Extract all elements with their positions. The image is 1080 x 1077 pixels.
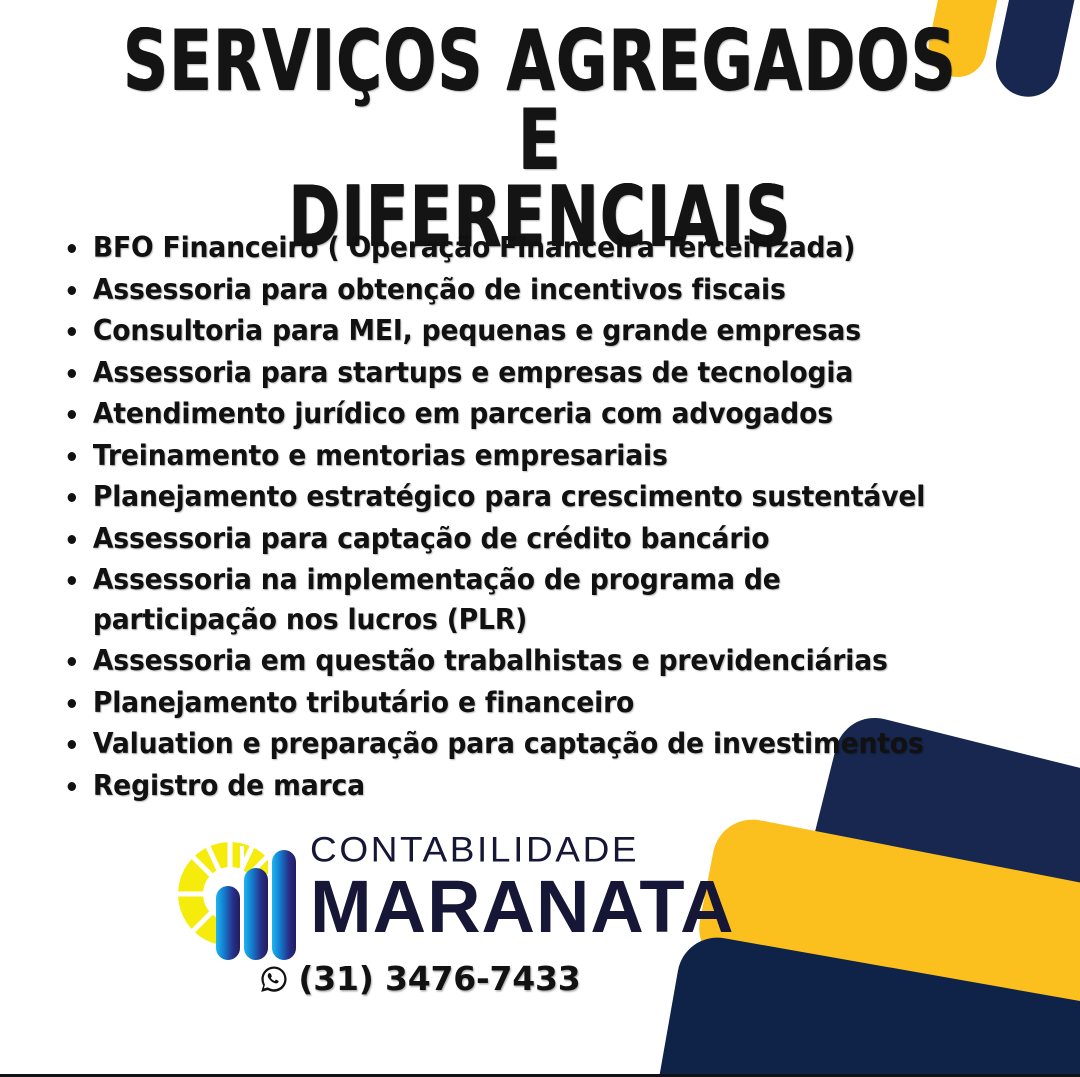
service-list-item: Assessoria para captação de crédito banc… xyxy=(62,519,988,559)
service-list-item: Valuation e preparação para captação de … xyxy=(62,724,988,764)
service-list-item: Assessoria para obtenção de incentivos f… xyxy=(62,270,988,310)
service-list-item: Atendimento jurídico em parceria com adv… xyxy=(62,394,988,434)
brand-logo-wordmark: CONTABILIDADE MARANATA xyxy=(310,828,735,942)
brand-logo-bottom-word: MARANATA xyxy=(310,872,735,942)
service-list-item: Assessoria para startups e empresas de t… xyxy=(62,353,988,393)
service-list-item: Assessoria na implementação de programa … xyxy=(62,560,838,639)
brand-logo-top-word: CONTABILIDADE xyxy=(310,832,639,868)
bottom-right-yellow-band xyxy=(692,813,1080,1077)
service-list-item: Assessoria em questão trabalhistas e pre… xyxy=(62,641,988,681)
service-list-item: Consultoria para MEI, pequenas e grande … xyxy=(62,311,988,351)
services-list: BFO Financeiro ( Operação Financeira Ter… xyxy=(62,228,1052,807)
poster-canvas: SERVIÇOS AGREGADOS E DIFERENCIAIS BFO Fi… xyxy=(0,0,1080,1077)
page-title-line-1: SERVIÇOS AGREGADOS E xyxy=(108,22,972,181)
service-list-item: Treinamento e mentorias empresariais xyxy=(62,436,988,476)
service-list-item: BFO Financeiro ( Operação Financeira Ter… xyxy=(62,228,988,268)
maranata-sun-bars-logo-icon xyxy=(178,828,302,960)
service-list-item: Planejamento estratégico para cresciment… xyxy=(62,477,988,517)
service-list-item: Planejamento tributário e financeiro xyxy=(62,683,988,723)
phone-number-text: (31) 3476-7433 xyxy=(298,962,580,996)
whatsapp-icon xyxy=(259,964,289,994)
service-list-item: Registro de marca xyxy=(62,766,988,806)
brand-logo: CONTABILIDADE MARANATA xyxy=(178,828,738,960)
contact-phone[interactable]: (31) 3476-7433 xyxy=(0,962,840,996)
page-title: SERVIÇOS AGREGADOS E DIFERENCIAIS xyxy=(0,22,1080,252)
